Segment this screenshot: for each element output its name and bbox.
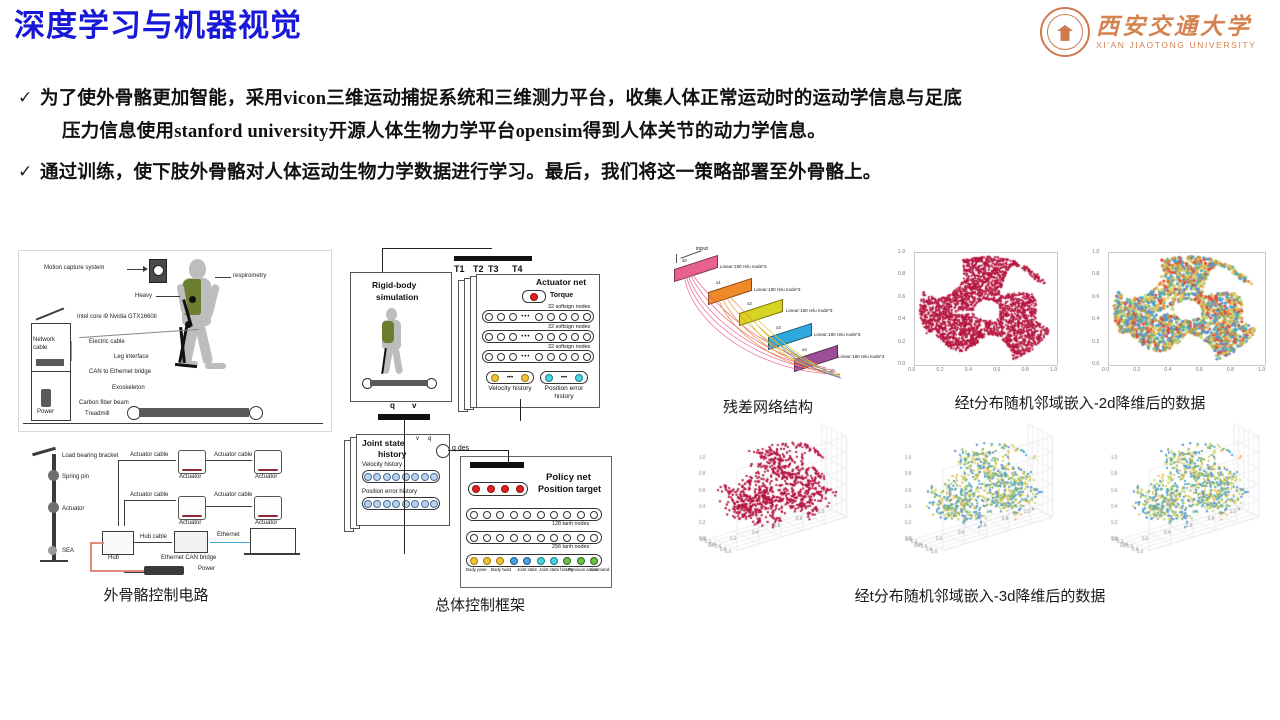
torque-label: Torque [550,292,573,299]
foot-base [40,560,68,562]
leader-line [215,277,231,278]
label-heavy: Heavy [135,293,152,299]
node [571,353,579,361]
plot-frame [1108,252,1266,366]
node [411,473,419,481]
label-actuator-leg: Actuator [62,506,84,512]
control-framework-figure: T1 T2 T3 T4 Rigid-body simulation q v [340,244,640,596]
node [547,333,555,341]
plot-canvas [660,420,860,580]
node [583,333,591,341]
node [559,333,567,341]
node [383,500,391,508]
figure-area: Motion capture system respirometry Hea [0,240,1280,640]
check-icon: ✓ [18,82,40,114]
node [559,313,567,321]
y-axis-tick: 0.4 [898,316,905,322]
check-icon-2: ✓ [18,156,40,188]
cable-line [206,460,252,461]
plot-canvas [915,253,1058,366]
bullet1-lat-opensim: opensim [516,122,583,142]
resnet-layer-label-3: Linear:180 relu node*3 [786,308,833,313]
resnet-layer-label-2: Linear:180 relu node*3 [754,287,801,292]
joint-velocity-history-label: Velocity history [362,462,402,468]
ellipsis: ••• [521,334,530,340]
y-axis-tick: 0.4 [1092,316,1099,322]
bullet1-seg-d: 开源人体生物力学平台 [329,120,516,141]
rigid-body-title-l2: simulation [376,292,419,302]
connector-line [404,420,405,554]
torque-output-node [522,290,546,303]
actuator-hidden-layer-1: ••• [482,310,594,323]
ellipsis: ••• [507,375,513,381]
node [523,534,531,542]
resnet-layer-block-2 [708,278,752,305]
label-can-bridge: CAN to Ethernet bridge [89,369,151,375]
actuator-unit-1 [178,450,206,474]
node [509,313,517,321]
policy-net-output-label: Position target [538,484,601,494]
label-load-bracket: Load bearing bracket [62,453,118,459]
y-axis-tick: 0.0 [1092,361,1099,367]
connector-line [508,450,509,464]
bullet1-seg-e: 得到人体关节的动力学信息。 [583,120,826,141]
ellipsis: ••• [521,354,530,360]
q-in-label: q [428,436,431,442]
node [485,313,493,321]
node [483,511,491,519]
power-brick [144,566,184,575]
label-hub-cable: Hub cable [140,534,167,540]
node [402,500,410,508]
torque-label-T3: T3 [488,264,499,274]
bullet1-seg-b: 三维运动捕捉系统和三维测力平台，收集人体正常运动时的运动学信息与足底 [326,87,962,108]
ethernet-can-bridge-device [174,531,208,553]
spring-pin-node [48,470,59,481]
label-ethernet-can-bridge: Ethernet CAN bridge [161,555,216,561]
logo-english-name: XI'AN JIAOTONG UNIVERSITY [1096,41,1257,50]
policy-input-group-6: command [590,567,609,572]
label-respirometry: respirometry [233,273,266,279]
node [537,511,545,519]
tsne-2d-single-color-plot: 0.00.20.40.60.81.00.00.20.40.60.81.0 [888,246,1064,386]
resnet-node-label-2: x2 [747,301,752,306]
sim-backpack [382,321,394,343]
resnet-node-label-0: x0 [682,258,687,263]
y-axis-tick: 0.8 [898,271,905,277]
label-leg-interface: Leg interface [114,354,149,360]
label-power: Power [37,409,54,415]
node [497,313,505,321]
bullet1-lat-stanford: stanford university [174,122,328,142]
label-treadmill: Treadmill [85,411,109,417]
cable-line [118,460,176,461]
ground-line [23,423,323,424]
actuator-unit-3 [178,496,206,520]
treadmill-roller-right [249,406,263,420]
node [563,534,571,542]
node [535,313,543,321]
tsne-2d-multi-color-plot: 0.00.20.40.60.81.00.00.20.40.60.81.0 [1082,246,1272,386]
label-intel-core: Intel core i9 Nvidia GTX1660ti [77,314,157,320]
hub-device [102,531,134,555]
ellipsis: ••• [521,314,530,320]
connector-line [448,450,508,451]
node [510,511,518,519]
resnet-input-line [676,254,677,263]
node [485,353,493,361]
node [559,353,567,361]
power-wire [124,572,144,573]
cable-line [118,460,119,526]
y-axis-tick: 0.0 [898,361,905,367]
policy-hidden-layer-2 [466,531,602,544]
node [364,473,372,481]
x-axis-tick: 0.4 [1164,367,1171,373]
node [521,374,529,382]
sim-treadmill-belt [370,380,428,386]
label-sea: SEA [62,548,74,554]
x-axis-tick: 0.0 [908,367,915,373]
policy-input-group-1: Body pose [466,567,487,572]
label-network-cable: Network cable [33,337,65,353]
y-axis-tick: 0.6 [898,294,905,300]
joint-velocity-history-layer [362,470,440,483]
human-head [189,259,206,279]
node [421,500,429,508]
x-axis-tick: 1.0 [1258,367,1265,373]
tsne-3d-multi-b-plot [1072,420,1272,580]
node [537,557,545,565]
feedback-line [382,248,492,249]
logo-chinese-name: 西安交通大学 [1096,15,1257,38]
node [510,534,518,542]
label-spring-pin: Spring pin [62,474,89,480]
label-actuator-4: Actuator [255,520,277,526]
node [577,534,585,542]
policy-input-layer [466,554,602,567]
policy-hidden-label-2: 256 tanh nodes [552,544,589,550]
label-motion-capture: Motion capture system [44,265,104,271]
actuator-unit-4 [254,496,282,520]
node [537,534,545,542]
node [550,511,558,519]
policy-net-title: Policy net [546,472,591,483]
node [430,473,438,481]
bullet-item-1: ✓ 为了使外骨骼更加智能，采用vicon三维运动捕捉系统和三维测力平台，收集人体… [18,82,1262,149]
label-actuator-cable-4: Actuator cable [214,492,252,498]
velocity-history-label: Velocity history [488,385,532,393]
bullet1-seg-c: 压力信息使用 [62,120,174,141]
policy-input-group-3: Joint state [517,567,537,572]
label-actuator-cable-3: Actuator cable [130,492,168,498]
node [421,473,429,481]
joint-state-title-l2: history [378,449,406,459]
bullet-list: ✓ 为了使外骨骼更加智能，采用vicon三维运动捕捉系统和三维测力平台，收集人体… [18,82,1262,195]
x-axis-tick: 0.2 [1133,367,1140,373]
node [583,313,591,321]
policy-hidden-label-1: 128 tanh nodes [552,521,589,527]
plot-canvas [1072,420,1272,580]
q-output-label: q [390,401,395,410]
residual-network-figure: input x0 Linear:180 relu node*3 x1 Linea… [660,244,880,394]
actuator-unit-2 [254,450,282,474]
node [497,353,505,361]
node [472,485,480,493]
node [496,534,504,542]
power-line-red [90,570,144,572]
node [364,500,372,508]
power-unit-box [41,389,51,407]
node [496,511,504,519]
x-axis-tick: 0.0 [1102,367,1109,373]
x-axis-tick: 0.4 [965,367,972,373]
y-axis-tick: 0.2 [898,339,905,345]
power-line-red [90,544,92,572]
joint-position-error-history-label: Position error history [362,489,417,495]
cable-line [124,500,176,501]
y-axis-tick: 1.0 [1092,249,1099,255]
torque-label-T1: T1 [454,264,465,274]
treadmill-belt [139,408,249,417]
label-actuator-1: Actuator [179,474,201,480]
torque-label-T4: T4 [512,264,523,274]
exoskeleton-circuit-figure: Load bearing bracket Spring pin Actuator… [18,436,330,586]
summation-junction [436,444,450,458]
node [402,473,410,481]
arrow-icon [143,266,148,272]
sea-node [48,546,57,555]
actuator-node [48,502,59,513]
exoskeleton-joint-knee [185,321,192,328]
plot-frame [914,252,1058,366]
actuator-hidden-layer-3: ••• [482,350,594,363]
node [583,353,591,361]
node [509,353,517,361]
page-title: 深度学习与机器视觉 [14,8,302,44]
x-axis-tick: 0.8 [1022,367,1029,373]
node [547,313,555,321]
leader-line [156,296,180,297]
node [392,473,400,481]
label-ethernet: Ethernet [217,532,240,538]
university-seal-icon [1040,7,1090,57]
caption-tsne2d: 经t分布随机邻域嵌入-2d降维后的数据 [880,392,1280,413]
v-output-label: v [412,401,416,410]
rigid-body-title-l1: Rigid-body [372,280,416,290]
y-axis-tick: 1.0 [898,249,905,255]
x-axis-tick: 0.8 [1227,367,1234,373]
node [483,534,491,542]
joint-state-title-l1: Joint state [362,438,405,448]
plot-canvas [866,420,1066,580]
y-axis-tick: 0.2 [1092,339,1099,345]
node [563,511,571,519]
exoskeleton-joint-hip [189,296,196,303]
feedback-line [382,248,383,272]
resnet-node-label-4: x4 [802,347,807,352]
actuator-hidden-layer-2: ••• [482,330,594,343]
tsne-3d-crimson-plot [660,420,860,580]
policy-hidden-layer-1 [466,508,602,521]
node [545,374,553,382]
position-error-input-layer: ••• [540,371,588,384]
label-actuator-3: Actuator [179,520,201,526]
node [516,485,524,493]
network-cable-line [71,341,72,361]
node [470,511,478,519]
bullet1-seg-a: 为了使外骨骼更加智能，采用 [40,87,283,108]
resnet-node-label-1: x1 [716,280,721,285]
torque-node-dot [530,293,538,301]
bullet-text-2: 通过训练，使下肢外骨骼对人体运动生物力学数据进行学习。最后，我们将这一策略部署至… [40,156,882,188]
x-axis-tick: 0.2 [936,367,943,373]
policy-input-group-2: Body twist [491,567,511,572]
resnet-layer-block-1 [674,255,718,282]
policy-output-layer [468,482,528,496]
bullet-text-1: 为了使外骨骼更加智能，采用vicon三维运动捕捉系统和三维测力平台，收集人体正常… [40,82,962,149]
node [575,374,583,382]
resnet-layer-label-4: Linear:180 relu node*3 [814,332,861,337]
torque-bus-bar [454,256,532,261]
tsne-3d-multi-a-plot [866,420,1066,580]
node [577,557,585,565]
cable-line [206,506,252,507]
resnet-layer-block-3 [739,299,783,326]
resnet-node-label-3: x3 [776,325,781,330]
label-actuator-2: Actuator [255,474,277,480]
node [373,500,381,508]
node [523,511,531,519]
node [571,333,579,341]
node [550,534,558,542]
node [571,313,579,321]
node [470,557,478,565]
node [497,333,505,341]
position-error-history-label: Position error history [540,385,588,401]
experiment-schematic-figure: Motion capture system respirometry Hea [18,250,332,432]
torque-label-T2: T2 [473,264,484,274]
label-exoskeleton: Exoskeleton [112,385,145,391]
power-line-red [90,542,104,544]
node [411,500,419,508]
joint-position-error-layer [362,497,440,510]
university-logo: 西安交通大学 XI'AN JIAOTONG UNIVERSITY [1040,4,1270,60]
ethernet-cable-line [210,542,252,543]
label-hub: Hub [108,555,119,561]
node [501,485,509,493]
node [392,500,400,508]
node [590,511,598,519]
actuator-net-title: Actuator net [536,277,586,287]
node [470,534,478,542]
node [487,485,495,493]
velocity-history-input-layer: ••• [486,371,534,384]
node [535,333,543,341]
caption-tsne3d: 经t分布随机邻域嵌入-3d降维后的数据 [780,585,1180,606]
node [483,557,491,565]
ellipsis: ••• [561,375,567,381]
x-axis-tick: 0.6 [993,367,1000,373]
label-actuator-cable-2: Actuator cable [214,452,252,458]
node [510,557,518,565]
node [485,333,493,341]
human-foot-front [205,363,226,369]
x-axis-tick: 0.6 [1196,367,1203,373]
caption-circuit: 外骨骼控制电路 [56,584,256,605]
cable-line [124,500,125,526]
node [590,557,598,565]
laptop-base [244,553,300,555]
node [547,353,555,361]
resnet-node-label-5: x5 [830,368,835,373]
node [563,557,571,565]
cable-line [134,542,172,543]
label-carbon-fiber: Carbon fiber beam [79,400,129,406]
x-axis-tick: 1.0 [1050,367,1057,373]
node [491,374,499,382]
resnet-layer-label-5: Linear:180 relu node*3 [838,354,885,359]
resnet-layer-label-1: Linear:180 relu node*3 [720,264,767,269]
node [535,353,543,361]
y-axis-tick: 0.8 [1092,271,1099,277]
node [523,557,531,565]
node [590,534,598,542]
node [373,473,381,481]
bullet1-lat-vicon: vicon [283,89,326,109]
laptop-lid [36,307,65,320]
caption-framework: 总体控制框架 [380,594,580,615]
label-power-circuit: Power [198,566,215,572]
laptop-device [250,528,296,554]
node [577,511,585,519]
label-actuator-cable-1: Actuator cable [130,452,168,458]
plot-canvas [1109,253,1266,366]
policy-output-bus-bar [470,462,524,468]
node [550,557,558,565]
connector-line [520,399,521,421]
bullet-item-2: ✓ 通过训练，使下肢外骨骼对人体运动生物力学数据进行学习。最后，我们将这一策略部… [18,156,1262,188]
can-bridge-box [36,359,64,366]
v-in-label: v [416,436,419,442]
node [496,557,504,565]
camera-lens-icon [153,265,164,276]
slide: 深度学习与机器视觉 西安交通大学 XI'AN JIAOTONG UNIVERSI… [0,0,1280,720]
node [509,333,517,341]
caption-resnet: 残差网络结构 [668,396,868,417]
node [383,473,391,481]
y-axis-tick: 0.6 [1092,294,1099,300]
label-electric-cable: Electric cable [89,339,125,345]
node [430,500,438,508]
